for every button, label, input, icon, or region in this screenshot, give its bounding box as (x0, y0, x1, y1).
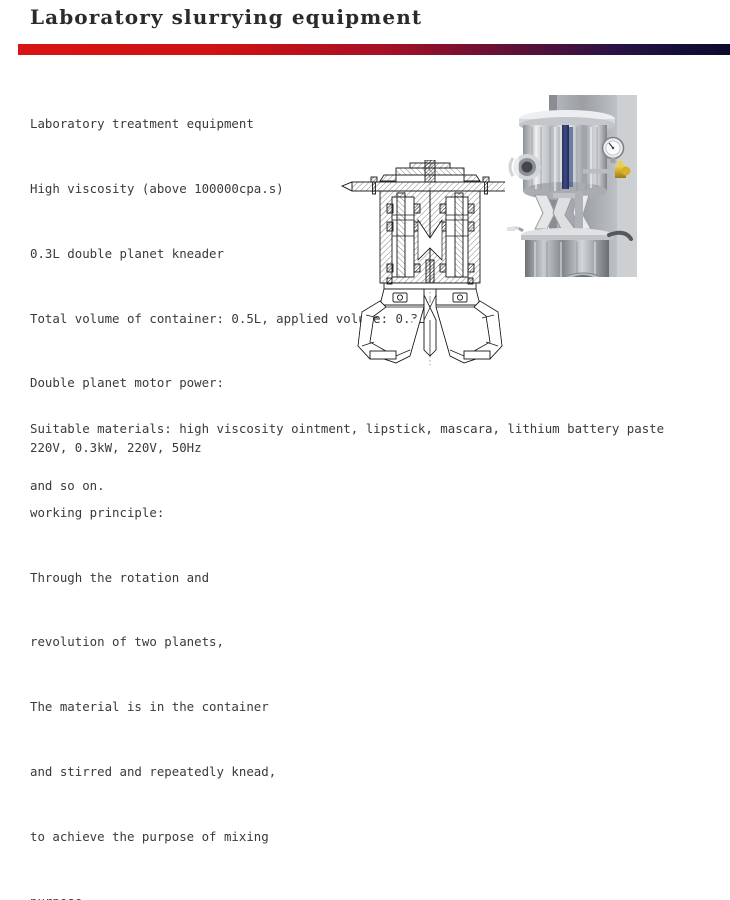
spec-line: and stirred and repeatedly knead, (30, 761, 360, 783)
footer-line: and so on. (30, 476, 706, 495)
spec-line: Through the rotation and (30, 567, 360, 589)
suitable-materials-text: Suitable materials: high viscosity ointm… (30, 381, 706, 533)
gradient-divider (18, 44, 730, 55)
planetary-blades (535, 191, 591, 233)
scraper-stem (424, 295, 436, 356)
spec-line: revolution of two planets, (30, 631, 360, 653)
technical-drawing (340, 160, 520, 365)
spec-line: Total volume of container: 0.5L, applied… (30, 308, 360, 330)
spec-line: The material is in the container (30, 696, 360, 718)
slide-canvas: Laboratory slurrying equipment Laborator… (0, 0, 730, 450)
blade-carrier-left (380, 289, 424, 305)
spec-line: to achieve the purpose of mixing (30, 826, 360, 848)
spec-line: 0.3L double planet kneader (30, 243, 360, 265)
spec-line: High viscosity (above 100000cpa.s) (30, 178, 360, 200)
spec-line: purpose. (30, 891, 360, 900)
equipment-photo (505, 95, 655, 317)
hose-bundle (562, 125, 569, 189)
spec-line: Laboratory treatment equipment (30, 113, 360, 135)
footer-line: Suitable materials: high viscosity ointm… (30, 419, 706, 438)
blade-carrier-right (436, 289, 480, 305)
page-title: Laboratory slurrying equipment (30, 5, 422, 29)
